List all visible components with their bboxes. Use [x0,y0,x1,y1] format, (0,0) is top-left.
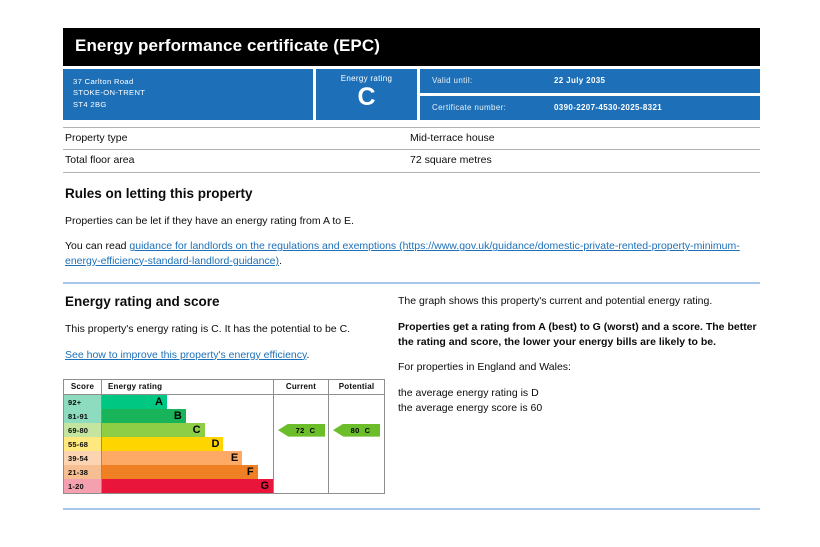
epc-current-column: 72C [274,395,329,493]
epc-band-score-range: 92+ [64,395,102,409]
epc-band-bar-wrap: E [102,451,273,465]
england-wales-intro: For properties in England and Wales: [398,360,760,375]
epc-band-score-range: 39-54 [64,451,102,465]
letting-rules-heading: Rules on letting this property [65,186,760,203]
epc-band-bar-f: F [102,465,258,479]
guidance-prefix: You can read [65,240,129,252]
property-details-table: Property type Mid-terrace house Total fl… [63,127,760,173]
epc-band-row: 39-54E [64,451,273,465]
epc-band-bar-a: A [102,395,167,409]
column-header-energy-rating: Energy rating [102,380,274,394]
epc-band-bar-g: G [102,479,273,493]
page-title: Energy performance certificate (EPC) [63,28,760,66]
address-line-3: ST4 2BG [73,99,303,111]
epc-value-columns: 72C 80C [273,395,384,493]
energy-rating-label: Energy rating [316,75,417,83]
epc-chart-body: 92+A81-91B69-80C55-68D39-54E21-38F1-20G … [64,395,384,493]
epc-band-bar-wrap: D [102,437,273,451]
valid-until-label: Valid until: [432,76,554,85]
epc-band-score-range: 21-38 [64,465,102,479]
epc-band-bar-wrap: G [102,479,273,493]
section-divider [63,282,760,284]
floor-area-label: Total floor area [65,154,410,168]
epc-band-row: 1-20G [64,479,273,493]
epc-band-score-range: 1-20 [64,479,102,493]
certificate-number-row: Certificate number: 0390-2207-4530-2025-… [420,96,760,120]
epc-rating-chart: Score Energy rating Current Potential 92… [63,379,385,494]
epc-band-row: 81-91B [64,409,273,423]
valid-until-row: Valid until: 22 July 2035 [420,69,760,93]
epc-potential-arrow: 80C [333,424,380,437]
epc-band-list: 92+A81-91B69-80C55-68D39-54E21-38F1-20G [64,395,273,493]
energy-rating-badge: Energy rating C [316,69,417,120]
epc-band-bar-e: E [102,451,242,465]
table-row: Total floor area 72 square metres [63,150,760,173]
epc-band-row: 69-80C [64,423,273,437]
epc-current-arrow-rating: C [310,426,316,435]
improve-link-suffix: . [307,349,310,361]
epc-chart-header: Score Energy rating Current Potential [64,380,384,395]
bottom-divider [63,508,760,510]
epc-page: Energy performance certificate (EPC) 37 … [0,0,820,547]
address-line-2: STOKE-ON-TRENT [73,87,303,99]
epc-band-score-range: 81-91 [64,409,102,423]
epc-band-row: 55-68D [64,437,273,451]
epc-band-row: 21-38F [64,465,273,479]
rating-score-left-column: Energy rating and score This property's … [63,294,397,494]
floor-area-value: 72 square metres [410,154,760,168]
epc-band-bar-wrap: B [102,409,273,423]
epc-band-score-range: 69-80 [64,423,102,437]
epc-band-score-range: 55-68 [64,437,102,451]
graph-explanation: The graph shows this property's current … [398,294,760,309]
epc-sheet: Energy performance certificate (EPC) 37 … [63,28,760,510]
certificate-number-label: Certificate number: [432,103,554,112]
improve-efficiency-paragraph: See how to improve this property's energ… [65,348,385,362]
address-line-1: 37 Carlton Road [73,76,303,88]
average-energy-score: the average energy score is 60 [398,401,760,416]
epc-band-bar-wrap: C [102,423,273,437]
epc-band-bar-c: C [102,423,205,437]
average-energy-rating: the average energy rating is D [398,386,760,401]
epc-current-arrow: 72C [278,424,325,437]
landlord-guidance-link[interactable]: guidance for landlords on the regulation… [65,240,740,266]
epc-potential-arrow-score: 80 [351,426,360,435]
epc-band-bar-wrap: A [102,395,273,409]
epc-band-bar-wrap: F [102,465,273,479]
table-row: Property type Mid-terrace house [63,127,760,151]
property-type-label: Property type [65,132,410,146]
improve-efficiency-link[interactable]: See how to improve this property's energ… [65,349,307,361]
energy-rating-letter: C [316,84,417,110]
epc-band-bar-b: B [102,409,186,423]
property-address: 37 Carlton Road STOKE-ON-TRENT ST4 2BG [63,69,313,120]
certificate-number-value: 0390-2207-4530-2025-8321 [554,103,662,112]
valid-until-value: 22 July 2035 [554,76,605,85]
epc-current-arrow-score: 72 [296,426,305,435]
epc-band-row: 92+A [64,395,273,409]
rating-score-summary: This property's energy rating is C. It h… [65,322,385,336]
guidance-suffix: . [279,255,282,267]
rating-explanation: Properties get a rating from A (best) to… [398,320,760,349]
rating-score-right-column: The graph shows this property's current … [397,294,760,494]
certificate-meta: Valid until: 22 July 2035 Certificate nu… [420,69,760,120]
column-header-potential: Potential [329,380,384,394]
column-header-score: Score [64,380,102,394]
epc-potential-arrow-rating: C [365,426,371,435]
letting-rules-guidance: You can read guidance for landlords on t… [65,239,760,268]
epc-potential-column: 80C [329,395,384,493]
rating-score-section: Energy rating and score This property's … [63,294,760,494]
letting-rules-paragraph: Properties can be let if they have an en… [65,214,760,228]
property-type-value: Mid-terrace house [410,132,760,146]
epc-band-bar-d: D [102,437,223,451]
certificate-summary: 37 Carlton Road STOKE-ON-TRENT ST4 2BG E… [63,69,760,120]
rating-score-heading: Energy rating and score [65,294,385,311]
column-header-current: Current [274,380,329,394]
